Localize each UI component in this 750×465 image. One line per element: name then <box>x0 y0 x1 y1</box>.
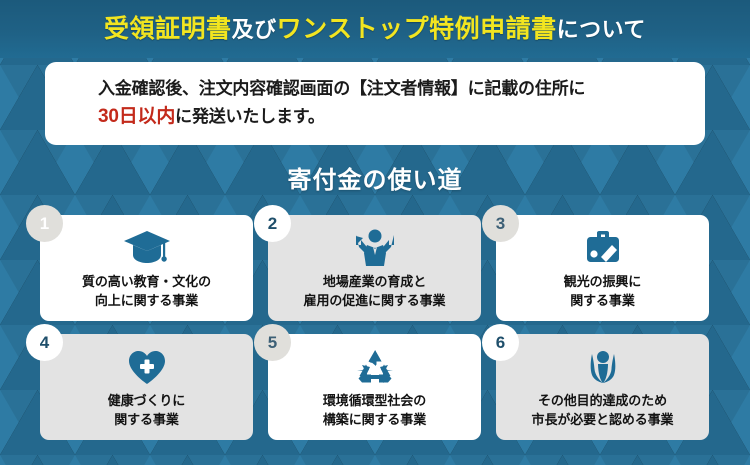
usage-card-3[interactable]: 3 観光の振興に 関する事業 <box>496 215 709 321</box>
usage-card-1[interactable]: 1 質の高い教育・文化の 向上に関する事業 <box>40 215 253 321</box>
usage-card-2-label-line2: 雇用の促進に関する事業 <box>304 291 446 310</box>
card-badge-3: 3 <box>482 205 519 242</box>
usage-card-2-label: 地場産業の育成と 雇用の促進に関する事業 <box>304 272 446 310</box>
usage-card-grid: 1 質の高い教育・文化の 向上に関する事業 2 <box>33 215 717 440</box>
person-open-arms-icon <box>581 347 625 387</box>
usage-card-2-label-line1: 地場産業の育成と <box>304 272 446 291</box>
usage-card-4-label-line2: 関する事業 <box>108 410 185 429</box>
notice-line-2: 30日以内に発送いたします。 <box>98 103 705 131</box>
usage-card-4[interactable]: 4 健康づくりに 関する事業 <box>40 334 253 440</box>
title-part-2: 及び <box>232 17 277 42</box>
usage-card-6-label: その他目的達成のため 市長が必要と認める事業 <box>532 391 674 429</box>
poster-root: 受領証明書及びワンストップ特例申請書について 入金確認後、注文内容確認画面の【注… <box>0 0 750 465</box>
usage-card-6-label-line1: その他目的達成のため <box>532 391 674 410</box>
usage-card-5-label-line1: 環境循環型社会の <box>323 391 426 410</box>
graduation-cap-icon <box>123 228 171 268</box>
usage-card-3-label-line2: 関する事業 <box>564 291 641 310</box>
recycle-icon <box>353 347 397 387</box>
cheering-person-icon <box>351 228 399 268</box>
section-heading: 寄付金の使い道 <box>0 160 750 195</box>
notice-line-1: 入金確認後、注文内容確認画面の【注文者情報】に記載の住所に <box>98 75 705 103</box>
notice-highlight-days: 30日以内 <box>98 106 175 127</box>
title-part-3: ワンストップ特例申請書 <box>277 15 557 43</box>
card-badge-1: 1 <box>26 205 63 242</box>
card-badge-2: 2 <box>254 205 291 242</box>
page-title: 受領証明書及びワンストップ特例申請書について <box>104 17 646 42</box>
usage-card-5-label: 環境循環型社会の 構築に関する事業 <box>323 391 426 429</box>
usage-card-5-label-line2: 構築に関する事業 <box>323 410 426 429</box>
usage-card-1-label-line2: 向上に関する事業 <box>82 291 211 310</box>
usage-card-4-label: 健康づくりに 関する事業 <box>108 391 185 429</box>
title-part-4: について <box>557 17 646 42</box>
usage-card-6[interactable]: 6 その他目的達成のため 市長が必要と認める事業 <box>496 334 709 440</box>
usage-card-2[interactable]: 2 地場産業の育成と 雇用の促進に関する事業 <box>268 215 481 321</box>
usage-card-4-label-line1: 健康づくりに <box>108 391 185 410</box>
notice-line-2-rest: に発送いたします。 <box>175 107 325 126</box>
usage-card-5[interactable]: 5 <box>268 334 481 440</box>
card-badge-4: 4 <box>26 324 63 361</box>
card-badge-6: 6 <box>482 324 519 361</box>
usage-card-1-label-line1: 質の高い教育・文化の <box>82 272 211 291</box>
header-band: 受領証明書及びワンストップ特例申請書について <box>0 0 750 58</box>
heart-plus-icon <box>125 347 169 387</box>
usage-card-6-label-line2: 市長が必要と認める事業 <box>532 410 674 429</box>
suitcase-icon <box>579 228 627 268</box>
card-badge-5: 5 <box>254 324 291 361</box>
notice-box: 入金確認後、注文内容確認画面の【注文者情報】に記載の住所に 30日以内に発送いた… <box>45 62 705 145</box>
title-part-1: 受領証明書 <box>104 15 232 43</box>
usage-card-3-label-line1: 観光の振興に <box>564 272 641 291</box>
usage-card-1-label: 質の高い教育・文化の 向上に関する事業 <box>82 272 211 310</box>
usage-card-3-label: 観光の振興に 関する事業 <box>564 272 641 310</box>
